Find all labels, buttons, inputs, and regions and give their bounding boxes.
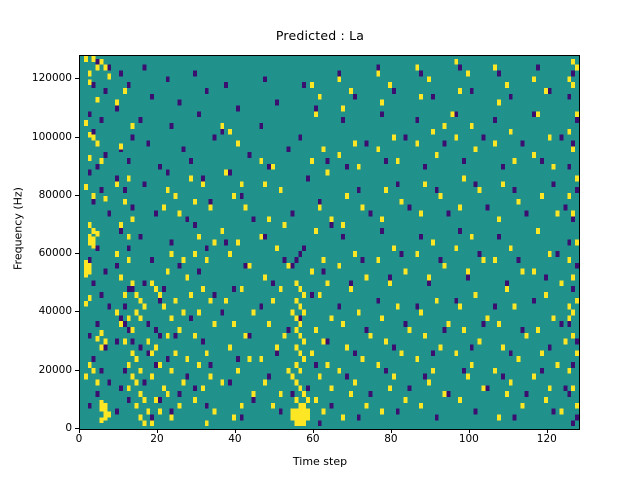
matplotlib-figure: Predicted : La 0200004000060000800001000…: [0, 0, 640, 480]
y-tick-label: 120000: [32, 72, 72, 84]
y-tick-mark: [75, 370, 79, 371]
y-tick-mark: [75, 311, 79, 312]
x-tick-label: 80: [384, 433, 397, 445]
y-tick-label: 40000: [39, 305, 72, 317]
y-tick-mark: [75, 253, 79, 254]
y-axis-label: Frequency (Hz): [12, 119, 25, 339]
y-tick-label: 100000: [32, 131, 72, 143]
y-tick-mark: [75, 137, 79, 138]
y-tick-mark: [75, 195, 79, 196]
y-tick-label: 80000: [39, 189, 72, 201]
spectrogram-heatmap: [80, 56, 579, 429]
x-axis-label: Time step: [0, 455, 640, 468]
x-tick-label: 40: [228, 433, 241, 445]
y-tick-mark: [75, 78, 79, 79]
x-tick-label: 60: [306, 433, 319, 445]
x-tick-label: 0: [76, 433, 83, 445]
y-tick-label: 20000: [39, 364, 72, 376]
x-tick-label: 120: [537, 433, 557, 445]
x-tick-label: 100: [459, 433, 479, 445]
x-tick-label: 20: [150, 433, 163, 445]
page-title: Predicted : La: [0, 28, 640, 43]
y-tick-label: 60000: [39, 247, 72, 259]
heatmap-axes: [79, 55, 580, 430]
y-tick-label: 0: [65, 422, 72, 434]
